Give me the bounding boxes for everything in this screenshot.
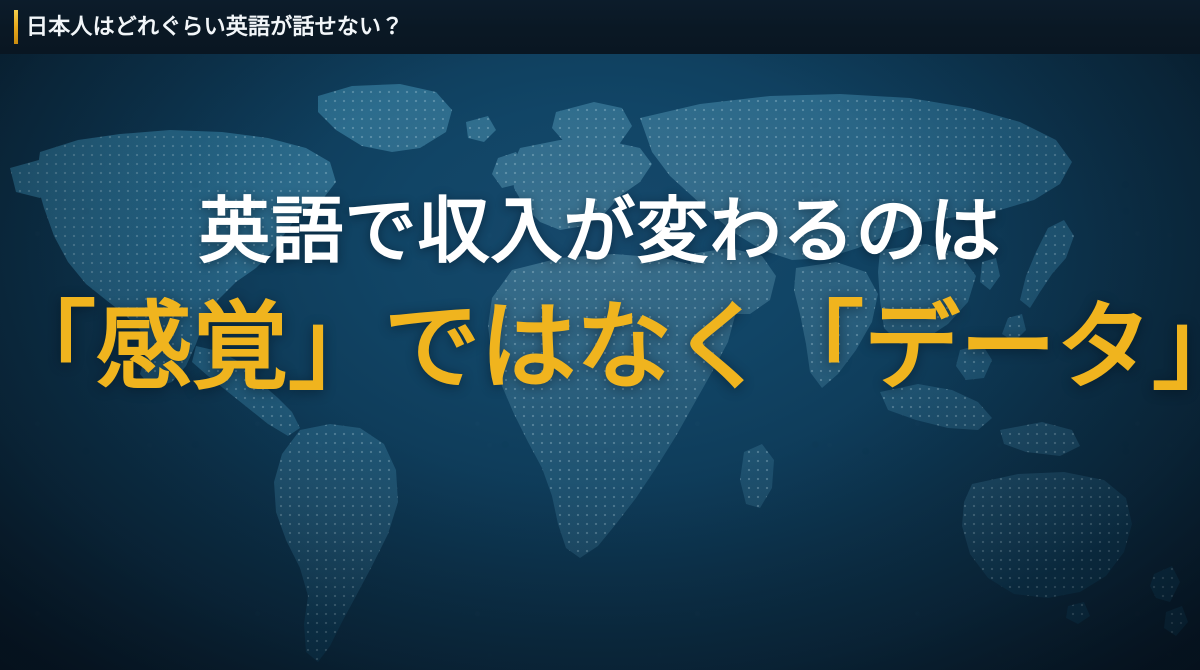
header-title: 日本人はどれぐらい英語が話せない？ — [26, 16, 403, 38]
header-bar: 日本人はどれぐらい英語が話せない？ — [0, 0, 1200, 54]
background-vignette — [0, 0, 1200, 670]
accent-bar-icon — [14, 10, 18, 44]
slide-root: 日本人はどれぐらい英語が話せない？ 英語で収入が変わるのは 「感覚」ではなく「デ… — [0, 0, 1200, 670]
